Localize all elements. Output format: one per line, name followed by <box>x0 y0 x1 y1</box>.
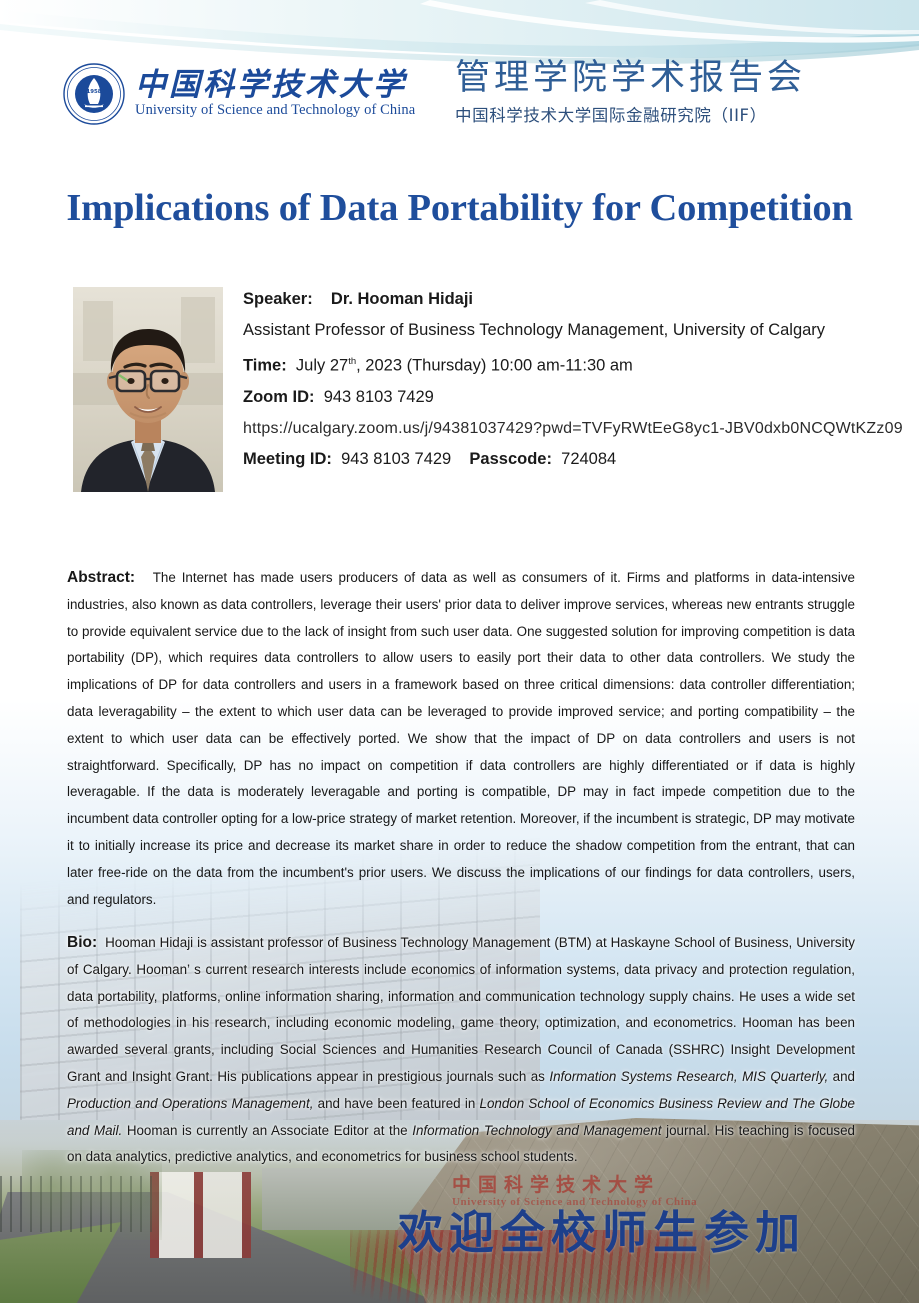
meeting-id-row: Meeting ID: 943 8103 7429 Passcode: 7240… <box>243 444 903 475</box>
bio-journal-4: Information Technology and Management <box>412 1123 661 1138</box>
page-title: Implications of Data Portability for Com… <box>0 186 919 230</box>
ustc-logo: 1958 中国科学技术大学 University of Science and … <box>62 62 415 126</box>
time-value-ordinal: th <box>348 356 356 367</box>
meeting-id-value: 943 8103 7429 <box>341 450 451 468</box>
speaker-portrait <box>73 287 223 492</box>
zoom-id-value: 943 8103 7429 <box>324 388 434 406</box>
series-title-cn: 管理学院学术报告会 <box>455 58 806 98</box>
bio-text-part2: and <box>828 1069 855 1084</box>
speaker-name: Dr. Hooman Hidaji <box>331 290 473 308</box>
ustc-logo-text: 中国科学技术大学 University of Science and Techn… <box>135 69 415 120</box>
welcome-message-cn: 欢迎全校师生参加 <box>398 1196 806 1261</box>
bio-text-part4: Hooman is currently an Associate Editor … <box>122 1123 412 1138</box>
rock-inscription-cn: 中国科学技术大学 <box>452 1170 660 1197</box>
ustc-name-en: University of Science and Technology of … <box>135 102 415 119</box>
zoom-id-row: Zoom ID: 943 8103 7429 <box>243 382 903 413</box>
bio-journal-2: Production and Operations Management, <box>67 1096 313 1111</box>
abstract-label: Abstract: <box>67 569 135 586</box>
poster-header: 1958 中国科学技术大学 University of Science and … <box>0 58 919 150</box>
bio-text-part3: and have been featured in <box>313 1096 479 1111</box>
ustc-name-cn: 中国科学技术大学 <box>135 69 415 102</box>
meeting-id-label: Meeting ID: <box>243 450 332 468</box>
series-subtitle-cn: 中国科学技术大学国际金融研究院（IIF） <box>455 102 806 126</box>
seminar-series-heading: 管理学院学术报告会 中国科学技术大学国际金融研究院（IIF） <box>455 58 806 126</box>
passcode-value: 724084 <box>561 450 616 468</box>
ustc-seal-icon: 1958 <box>62 62 126 126</box>
abstract-section: Abstract: The Internet has made users pr… <box>67 565 855 913</box>
speaker-row: Speaker: Dr. Hooman Hidaji <box>243 284 903 315</box>
zoom-meeting-link[interactable]: https://ucalgary.zoom.us/j/94381037429?p… <box>243 413 903 444</box>
time-value-post: , 2023 (Thursday) 10:00 am-11:30 am <box>356 357 633 375</box>
bio-section: Bio: Hooman Hidaji is assistant professo… <box>67 930 855 1171</box>
speaker-photo-illustration <box>73 287 223 492</box>
abstract-text: The Internet has made users producers of… <box>67 570 855 907</box>
passcode-label: Passcode: <box>469 450 552 468</box>
time-row: Time: July 27th, 2023 (Thursday) 10:00 a… <box>243 346 903 382</box>
time-label: Time: <box>243 357 287 375</box>
zoom-id-label: Zoom ID: <box>243 388 315 406</box>
speaker-label: Speaker: <box>243 290 313 308</box>
time-value-pre: July 27 <box>296 357 348 375</box>
svg-text:1958: 1958 <box>86 89 101 95</box>
bio-label: Bio: <box>67 934 97 951</box>
campus-gate-pillars <box>150 1172 262 1258</box>
seminar-poster: 中国科学技术大学 University of Science and Techn… <box>0 0 919 1303</box>
speaker-affiliation: Assistant Professor of Business Technolo… <box>243 315 903 346</box>
bio-text-part1: Hooman Hidaji is assistant professor of … <box>67 935 855 1084</box>
speaker-info-block: Speaker: Dr. Hooman Hidaji Assistant Pro… <box>243 284 903 475</box>
bio-journal-1: Information Systems Research, MIS Quarte… <box>549 1069 828 1084</box>
